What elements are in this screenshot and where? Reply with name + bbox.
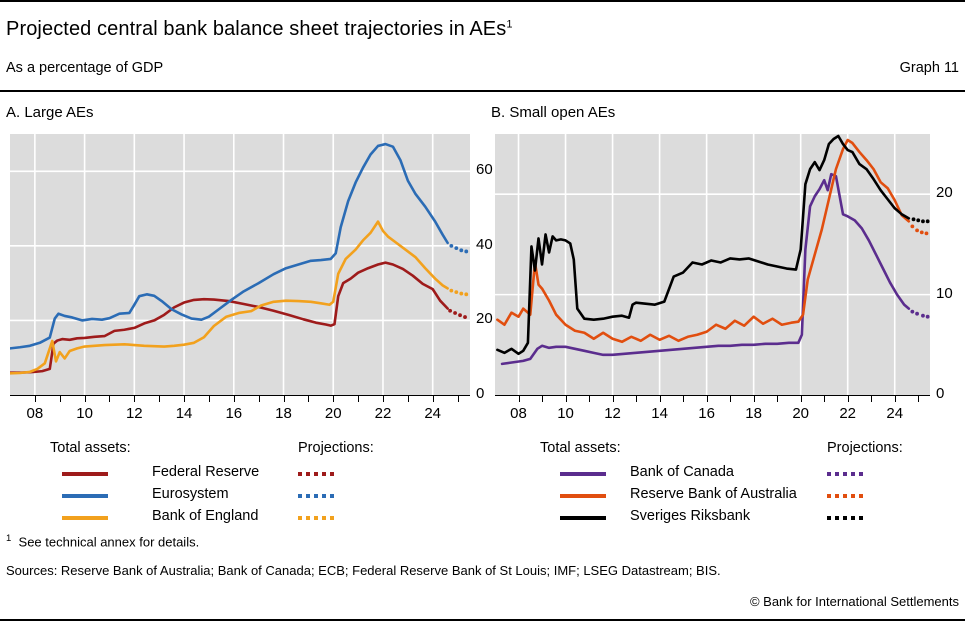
footnote-text: See technical annex for details.	[19, 534, 200, 549]
legend-label: Federal Reserve	[152, 464, 259, 480]
x-axis-tick	[566, 395, 567, 402]
x-tick-label: 18	[734, 405, 774, 422]
x-axis-tick	[85, 395, 86, 402]
projection-dot	[921, 219, 925, 223]
x-tick-label: 12	[114, 405, 154, 422]
x-axis-tick	[589, 395, 590, 402]
y-tick-label: 20	[476, 310, 493, 327]
legend-projection-dots	[298, 472, 344, 476]
projection-dot	[463, 315, 467, 319]
panel-a-svg	[10, 134, 470, 395]
projection-dot	[448, 309, 452, 313]
legend-label: Reserve Bank of Australia	[630, 486, 797, 502]
x-tick-label: 24	[413, 405, 453, 422]
x-axis-tick	[683, 395, 684, 402]
x-tick-label: 20	[781, 405, 821, 422]
x-axis-tick	[754, 395, 755, 402]
legend-projection-dots	[298, 494, 344, 498]
projection-dot	[464, 250, 468, 254]
page-title-text: Projected central bank balance sheet tra…	[6, 18, 506, 40]
x-axis-tick	[408, 395, 409, 402]
y-tick-label: 60	[476, 161, 493, 178]
x-axis-tick	[801, 395, 802, 402]
x-axis-tick	[60, 395, 61, 402]
projection-dot	[916, 218, 920, 222]
x-tick-label: 14	[164, 405, 204, 422]
legend-swatch	[560, 472, 606, 476]
footnote: 1 See technical annex for details.	[6, 533, 199, 549]
copyright-line: © Bank for International Settlements	[750, 594, 959, 609]
x-axis-tick	[636, 395, 637, 402]
x-tick-label: 12	[593, 405, 633, 422]
x-axis-tick	[660, 395, 661, 402]
x-axis-tick	[234, 395, 235, 402]
x-axis-tick	[209, 395, 210, 402]
x-axis-tick	[358, 395, 359, 402]
panel-a-plot	[10, 134, 470, 395]
y-tick-label: 20	[936, 184, 953, 201]
projection-dot	[449, 244, 453, 248]
legend-swatch	[62, 494, 108, 498]
x-tick-label: 24	[875, 405, 915, 422]
projection-dot	[454, 246, 458, 250]
legend-projection-dots	[827, 472, 873, 476]
projection-dot	[912, 217, 916, 221]
x-axis-tick	[383, 395, 384, 402]
x-axis-tick	[433, 395, 434, 402]
x-tick-label: 10	[65, 405, 105, 422]
x-tick-label: 16	[214, 405, 254, 422]
y-tick-label: 40	[476, 236, 493, 253]
x-axis-tick	[35, 395, 36, 402]
projection-dot	[926, 315, 930, 319]
x-tick-label: 22	[363, 405, 403, 422]
x-axis-tick	[613, 395, 614, 402]
projection-dot	[915, 312, 919, 316]
x-axis-tick	[824, 395, 825, 402]
legend-projection-dots	[827, 494, 873, 498]
x-axis-tick	[259, 395, 260, 402]
x-tick-label: 08	[15, 405, 55, 422]
legend-label: Sveriges Riksbank	[630, 508, 750, 524]
top-rule	[0, 0, 965, 2]
projection-dot	[910, 310, 914, 314]
panel-a-title: A. Large AEs	[6, 104, 94, 121]
title-footnote-marker: 1	[506, 18, 512, 30]
legend-projection-dots	[827, 516, 873, 520]
x-axis-tick	[308, 395, 309, 402]
header-rule	[0, 90, 965, 92]
y-tick-label: 0	[476, 385, 484, 402]
x-tick-label: 08	[499, 405, 539, 422]
projection-dot	[464, 292, 468, 296]
x-axis-tick	[184, 395, 185, 402]
x-axis-tick	[284, 395, 285, 402]
legend-projection-dots	[298, 516, 344, 520]
panel-b-title: B. Small open AEs	[491, 104, 615, 121]
x-tick-label: 18	[264, 405, 304, 422]
footnote-marker: 1	[6, 533, 11, 544]
x-tick-label: 16	[687, 405, 727, 422]
x-axis-tick	[707, 395, 708, 402]
projection-dot	[921, 314, 925, 318]
x-tick-label: 20	[313, 405, 353, 422]
projection-dot	[459, 248, 463, 252]
sources-line: Sources: Reserve Bank of Australia; Bank…	[6, 563, 721, 578]
y-tick-label: 10	[936, 285, 953, 302]
x-axis-tick	[542, 395, 543, 402]
x-axis-tick	[109, 395, 110, 402]
projection-dot	[453, 311, 457, 315]
graph-number: Graph 11	[900, 60, 959, 76]
legend-label: Bank of England	[152, 508, 258, 524]
x-axis-tick	[730, 395, 731, 402]
x-tick-label: 10	[546, 405, 586, 422]
x-axis-tick	[134, 395, 135, 402]
legend-swatch	[560, 494, 606, 498]
x-axis-tick	[159, 395, 160, 402]
projection-dot	[459, 292, 463, 296]
x-axis-tick	[848, 395, 849, 402]
projection-dot	[454, 290, 458, 294]
legend-swatch	[62, 516, 108, 520]
x-tick-label: 14	[640, 405, 680, 422]
legend-swatch	[62, 472, 108, 476]
x-axis-tick	[333, 395, 334, 402]
series-line	[10, 222, 448, 374]
x-axis-line	[495, 395, 930, 396]
legend-heading-projections: Projections:	[827, 440, 903, 456]
x-axis-tick	[777, 395, 778, 402]
projection-dot	[925, 231, 929, 235]
page-subtitle: As a percentage of GDP	[6, 60, 163, 76]
projection-dot	[920, 230, 924, 234]
projection-dot	[910, 224, 914, 228]
legend-heading-total-assets: Total assets:	[50, 440, 131, 456]
x-axis-tick	[871, 395, 872, 402]
legend-heading-total-assets: Total assets:	[540, 440, 621, 456]
x-axis-tick	[458, 395, 459, 402]
x-axis-line	[10, 395, 470, 396]
projection-dot	[449, 289, 453, 293]
legend-swatch	[560, 516, 606, 520]
panel-b-svg	[495, 134, 930, 395]
legend-heading-projections: Projections:	[298, 440, 374, 456]
projection-dot	[915, 228, 919, 232]
page-title: Projected central bank balance sheet tra…	[6, 18, 513, 41]
projection-dot	[458, 313, 462, 317]
panel-b-plot	[495, 134, 930, 395]
projection-dot	[926, 219, 930, 223]
graph-page: Projected central bank balance sheet tra…	[0, 0, 965, 621]
legend-label: Bank of Canada	[630, 464, 734, 480]
y-tick-label: 0	[936, 385, 944, 402]
x-axis-tick	[918, 395, 919, 402]
x-axis-tick	[519, 395, 520, 402]
x-axis-tick	[895, 395, 896, 402]
x-tick-label: 22	[828, 405, 868, 422]
legend-label: Eurosystem	[152, 486, 229, 502]
